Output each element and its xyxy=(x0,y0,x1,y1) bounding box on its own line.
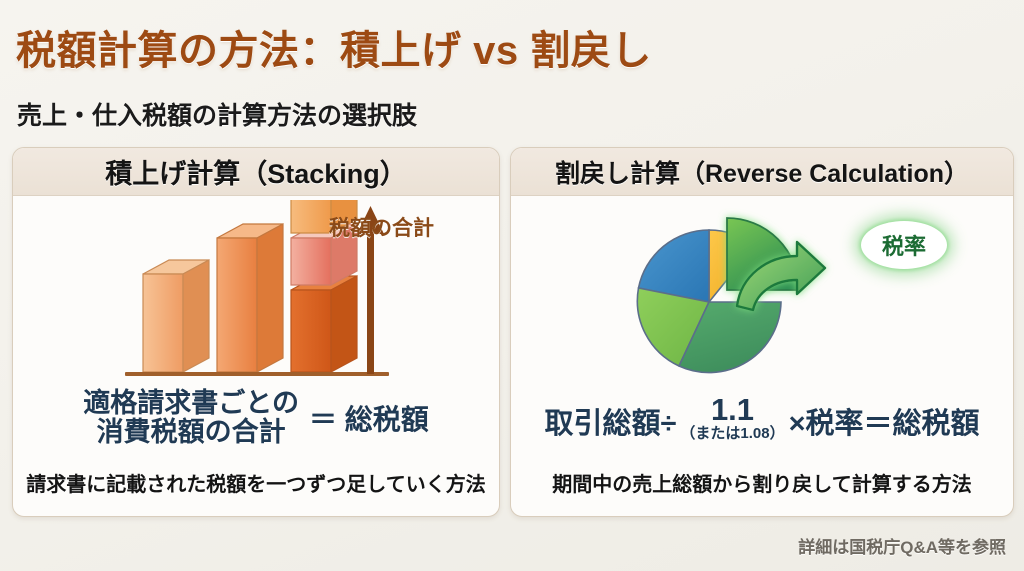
tax-rate-callout-label: 税率 xyxy=(882,229,926,261)
stacking-formula: 適格請求書ごとの 消費税額の合計 ＝ 総税額 xyxy=(13,389,499,447)
card-reverse-title: 割戻し計算（Reverse Calculation） xyxy=(555,154,969,190)
stacking-formula-rhs: ＝ 総税額 xyxy=(309,398,429,438)
card-stacking-title: 積上げ計算（Stacking） xyxy=(105,152,407,191)
reverse-formula-divisor-note: （または1.08） xyxy=(680,425,784,444)
page-subtitle: 売上・仕入税額の計算方法の選択肢 xyxy=(17,96,417,132)
stacking-caption: 請求書に記載された税額を一つずつ足していく方法 xyxy=(13,468,499,497)
reverse-formula-divisor-value: 1.1 xyxy=(711,394,754,425)
card-reverse-body: 税率 取引総額÷ 1.1 （または1.08） ×税率＝総税額 期間中の売上総額か… xyxy=(511,196,1013,516)
stacking-formula-lhs: 適格請求書ごとの 消費税額の合計 xyxy=(83,389,299,447)
reverse-illustration: 税率 xyxy=(511,196,1013,396)
reverse-formula-prefix: 取引総額÷ xyxy=(544,400,676,442)
tax-rate-callout: 税率 xyxy=(861,221,947,269)
reverse-formula-suffix: ×税率＝総税額 xyxy=(789,400,980,442)
card-stacking[interactable]: 積上げ計算（Stacking） xyxy=(12,147,500,517)
stacking-axis-label: 税額の合計 xyxy=(329,212,434,242)
page-title: 税額計算の方法：積上げ vs 割戻し xyxy=(16,18,652,76)
card-stacking-body: 税額の合計 適格請求書ごとの 消費税額の合計 ＝ 総税額 請求書に記載された税額… xyxy=(13,196,499,516)
reverse-caption: 期間中の売上総額から割り戻して計算する方法 xyxy=(511,468,1013,497)
stacking-formula-line2: 消費税額の合計 xyxy=(83,418,299,447)
card-reverse-calculation[interactable]: 割戻し計算（Reverse Calculation） xyxy=(510,147,1014,517)
stacking-illustration: 税額の合計 xyxy=(13,196,499,396)
reverse-formula: 取引総額÷ 1.1 （または1.08） ×税率＝総税額 xyxy=(511,392,1013,442)
card-stacking-header: 積上げ計算（Stacking） xyxy=(13,148,499,196)
footer-note: 詳細は国税庁Q&A等を参照 xyxy=(798,533,1006,558)
slide-root: 税額計算の方法：積上げ vs 割戻し 売上・仕入税額の計算方法の選択肢 積上げ計… xyxy=(0,0,1024,571)
reverse-formula-divisor: 1.1 （または1.08） xyxy=(680,394,784,444)
stacking-formula-line1: 適格請求書ごとの xyxy=(83,389,299,418)
card-reverse-header: 割戻し計算（Reverse Calculation） xyxy=(511,148,1013,196)
